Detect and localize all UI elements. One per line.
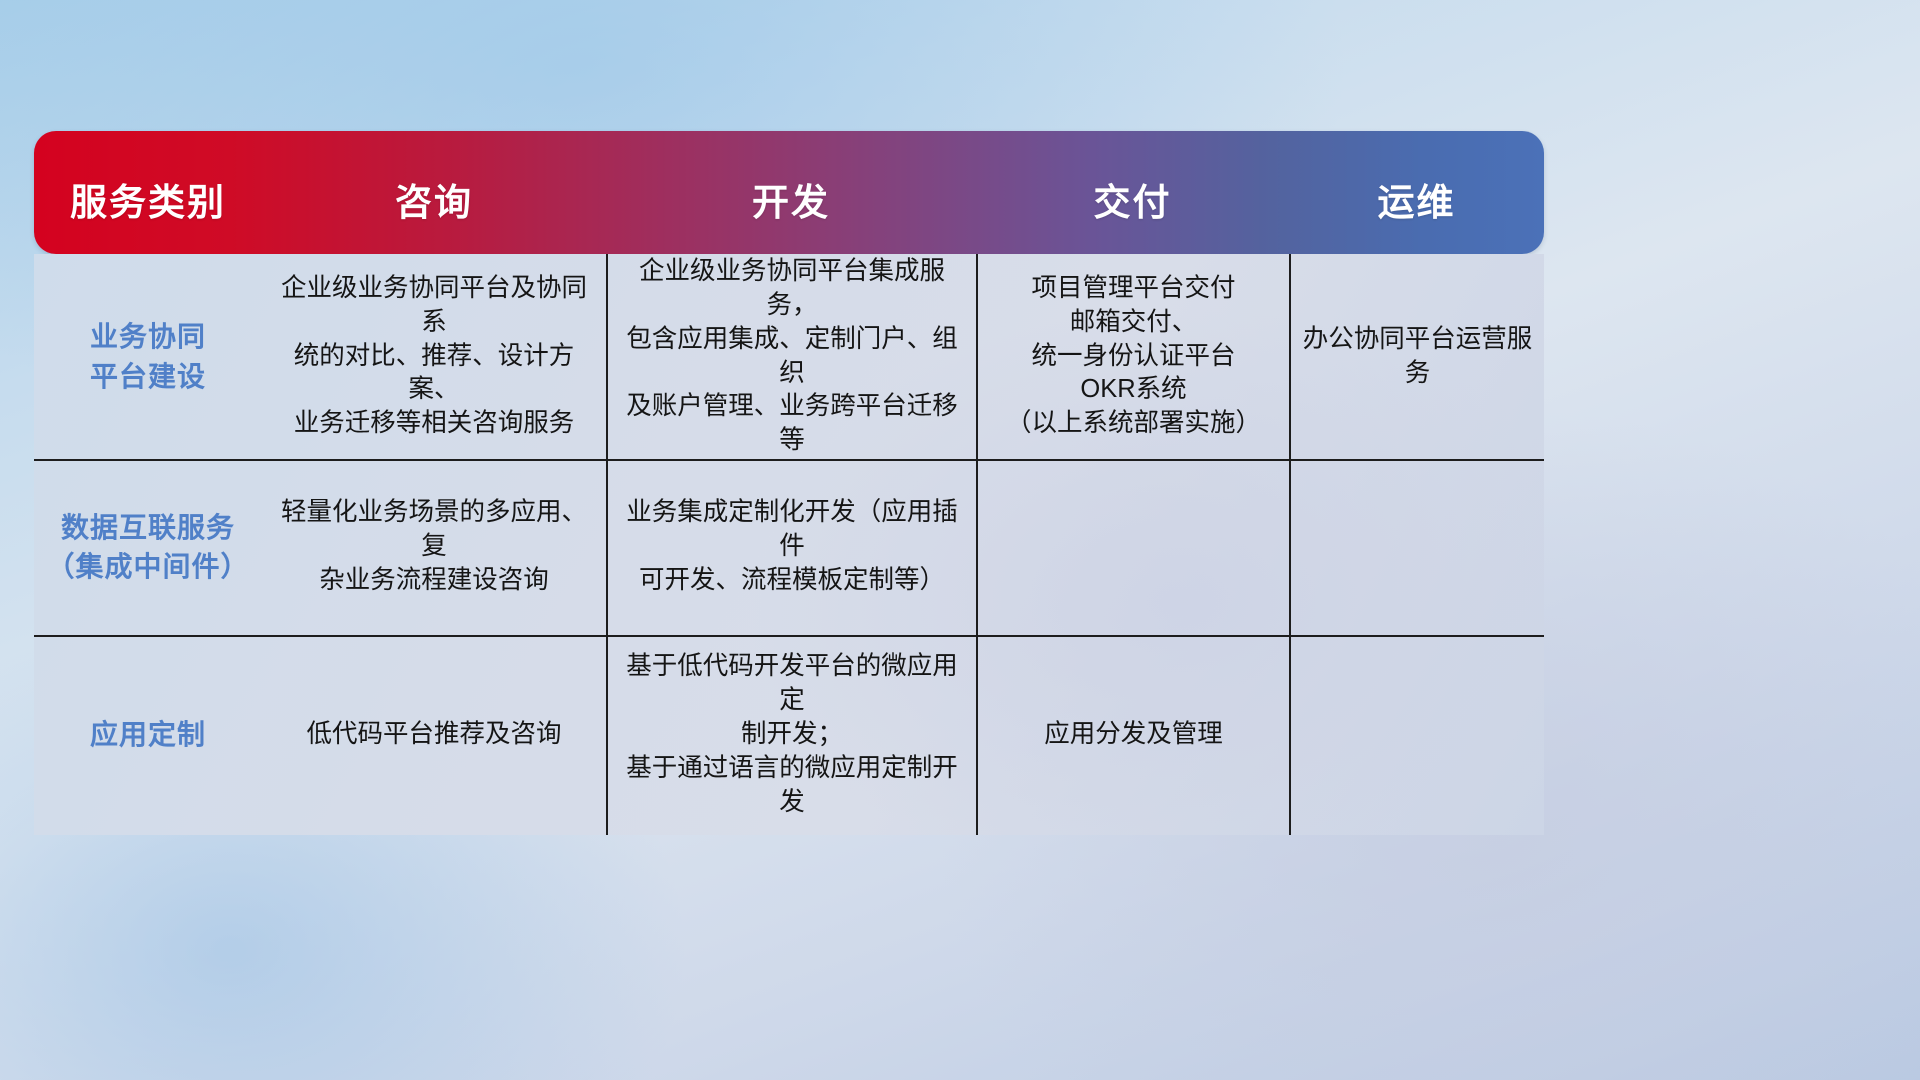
header-cell-category: 服务类别 <box>34 131 262 254</box>
header-cell-ops: 运维 <box>1289 131 1544 254</box>
slide-canvas: 服务类别 咨询 开发 交付 运维 业务协同 平台建设 企业级业务协同平台及协同系… <box>0 0 1920 1080</box>
service-matrix-table: 服务类别 咨询 开发 交付 运维 业务协同 平台建设 企业级业务协同平台及协同系… <box>34 131 1544 835</box>
cell-consult: 低代码平台推荐及咨询 <box>262 635 606 835</box>
table-row: 应用定制 低代码平台推荐及咨询 基于低代码开发平台的微应用定 制开发； 基于通过… <box>34 635 1544 835</box>
cell-ops <box>1289 635 1544 835</box>
table-body: 业务协同 平台建设 企业级业务协同平台及协同系 统的对比、推荐、设计方案、 业务… <box>34 254 1544 835</box>
cell-develop: 企业级业务协同平台集成服务， 包含应用集成、定制门户、组织 及账户管理、业务跨平… <box>606 254 976 459</box>
table-row: 业务协同 平台建设 企业级业务协同平台及协同系 统的对比、推荐、设计方案、 业务… <box>34 254 1544 459</box>
table-row: 数据互联服务 （集成中间件） 轻量化业务场景的多应用、复 杂业务流程建设咨询 业… <box>34 459 1544 635</box>
row-category-label: 应用定制 <box>34 635 262 835</box>
row-category-label: 数据互联服务 （集成中间件） <box>34 459 262 635</box>
row-category-label: 业务协同 平台建设 <box>34 254 262 459</box>
cell-develop: 基于低代码开发平台的微应用定 制开发； 基于通过语言的微应用定制开发 <box>606 635 976 835</box>
header-cell-develop: 开发 <box>606 131 976 254</box>
cell-consult: 企业级业务协同平台及协同系 统的对比、推荐、设计方案、 业务迁移等相关咨询服务 <box>262 254 606 459</box>
cell-deliver: 应用分发及管理 <box>976 635 1289 835</box>
header-cell-consult: 咨询 <box>262 131 606 254</box>
cell-deliver <box>976 459 1289 635</box>
table-header-row: 服务类别 咨询 开发 交付 运维 <box>34 131 1544 254</box>
cell-develop: 业务集成定制化开发（应用插件 可开发、流程模板定制等） <box>606 459 976 635</box>
cell-consult: 轻量化业务场景的多应用、复 杂业务流程建设咨询 <box>262 459 606 635</box>
cell-ops: 办公协同平台运营服务 <box>1289 254 1544 459</box>
cell-deliver: 项目管理平台交付 邮箱交付、 统一身份认证平台 OKR系统 （以上系统部署实施） <box>976 254 1289 459</box>
cell-ops <box>1289 459 1544 635</box>
header-cell-deliver: 交付 <box>976 131 1289 254</box>
